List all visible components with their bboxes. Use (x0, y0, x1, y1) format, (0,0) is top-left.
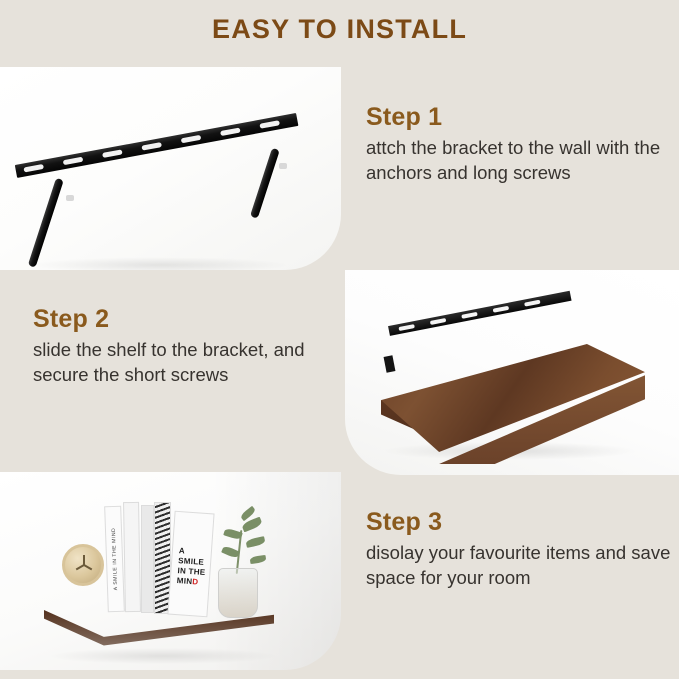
bracket-slot (493, 306, 509, 313)
bracket-slot (63, 156, 84, 165)
bracket-shadow (30, 257, 290, 270)
desk-clock (62, 544, 104, 586)
step-2-text-block: Step 2 slide the shelf to the bracket, a… (33, 305, 328, 387)
bracket-slot (259, 120, 280, 129)
step-2-body: slide the shelf to the bracket, and secu… (33, 338, 328, 387)
shelf-with-bracket-illustration (345, 270, 679, 475)
step-1-heading: Step 1 (366, 103, 666, 132)
bracket-illustration (0, 67, 341, 270)
bracket-slot (430, 318, 446, 325)
book-spine-text: A SMILE IN THE MIND (110, 528, 118, 591)
bracket-slot (23, 163, 44, 172)
clock-hand (84, 564, 93, 570)
styled-shelf-illustration: A SMILE IN THE MIND A SMILE IN THE MIND (0, 472, 341, 670)
bracket-slot (398, 324, 414, 331)
bracket-slot (102, 149, 123, 158)
shelf-shadow (50, 648, 275, 664)
step-3-image-panel: A SMILE IN THE MIND A SMILE IN THE MIND (0, 472, 341, 670)
step-1-body: attch the bracket to the wall with the a… (366, 136, 666, 185)
bracket-end-tab (384, 355, 396, 372)
bracket-slot (524, 300, 540, 307)
step-1-image-panel (0, 67, 341, 270)
bracket-support-rod-right (250, 148, 280, 219)
bracket-slot (220, 127, 241, 136)
bracket-slot (181, 134, 202, 143)
bracket-slot (141, 142, 162, 151)
book-cover-line-1: A SMILE (178, 546, 205, 567)
step-1-text-block: Step 1 attch the bracket to the wall wit… (366, 103, 666, 185)
bracket-rail (388, 291, 572, 336)
step-2-heading: Step 2 (33, 305, 328, 334)
infographic-page: EASY TO INSTALL Step 1 attch the bracket… (0, 0, 679, 679)
book-cover-line-3: MIN (176, 576, 192, 586)
bracket-rail (15, 113, 299, 178)
bracket-nut (66, 195, 74, 201)
page-title: EASY TO INSTALL (0, 14, 679, 45)
book-cover-title: A SMILE IN THE MIND (176, 546, 211, 588)
step-3-body: disolay your favourite items and save sp… (366, 541, 671, 590)
step-3-heading: Step 3 (366, 508, 671, 537)
step-2-image-panel (345, 270, 679, 475)
clock-hand (75, 564, 84, 570)
bracket-slot (461, 312, 477, 319)
step-3-text-block: Step 3 disolay your favourite items and … (366, 508, 671, 590)
bracket-nut (279, 163, 287, 169)
bracket-support-rod-left (28, 178, 64, 268)
